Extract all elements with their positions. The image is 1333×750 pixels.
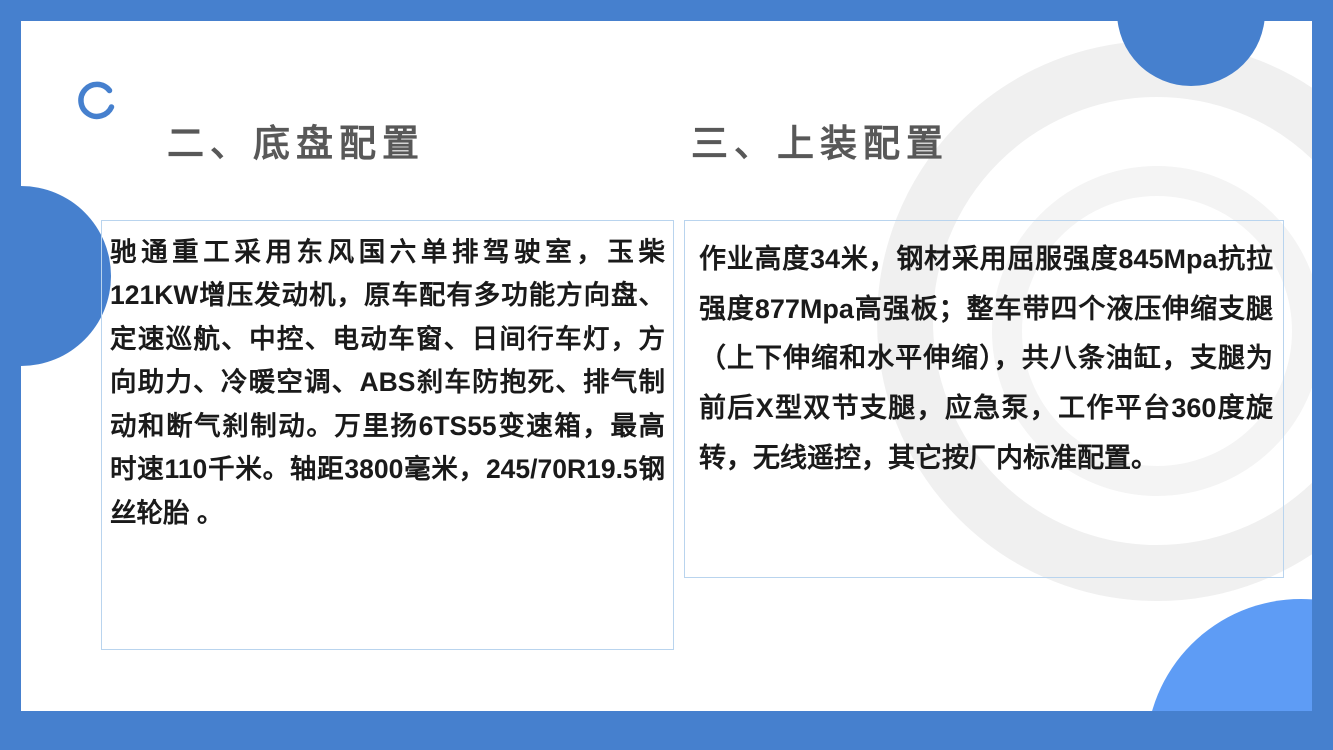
chassis-configuration-text: 驰通重工采用东风国六单排驾驶室，玉柴121KW增压发动机，原车配有多功能方向盘、… — [110, 231, 665, 535]
circle-decoration-bottom-right — [1146, 599, 1312, 711]
textbox-body-configuration: 作业高度34米，钢材采用屈服强度845Mpa抗拉强度877Mpa高强板；整车带四… — [684, 220, 1284, 578]
circular-arc-icon — [73, 77, 121, 125]
half-circle-decoration-left — [21, 186, 111, 366]
body-configuration-text: 作业高度34米，钢材采用屈服强度845Mpa抗拉强度877Mpa高强板；整车带四… — [699, 235, 1273, 483]
page-title-chassis: 二、底盘配置 — [167, 125, 425, 162]
slide-content-area: 二、底盘配置 三、上装配置 驰通重工采用东风国六单排驾驶室，玉柴121KW增压发… — [21, 21, 1312, 711]
page-title-body: 三、上装配置 — [691, 125, 949, 162]
textbox-chassis-configuration: 驰通重工采用东风国六单排驾驶室，玉柴121KW增压发动机，原车配有多功能方向盘、… — [101, 220, 674, 650]
half-circle-decoration-top-right — [1117, 21, 1265, 86]
slide-canvas: 二、底盘配置 三、上装配置 驰通重工采用东风国六单排驾驶室，玉柴121KW增压发… — [0, 0, 1333, 750]
